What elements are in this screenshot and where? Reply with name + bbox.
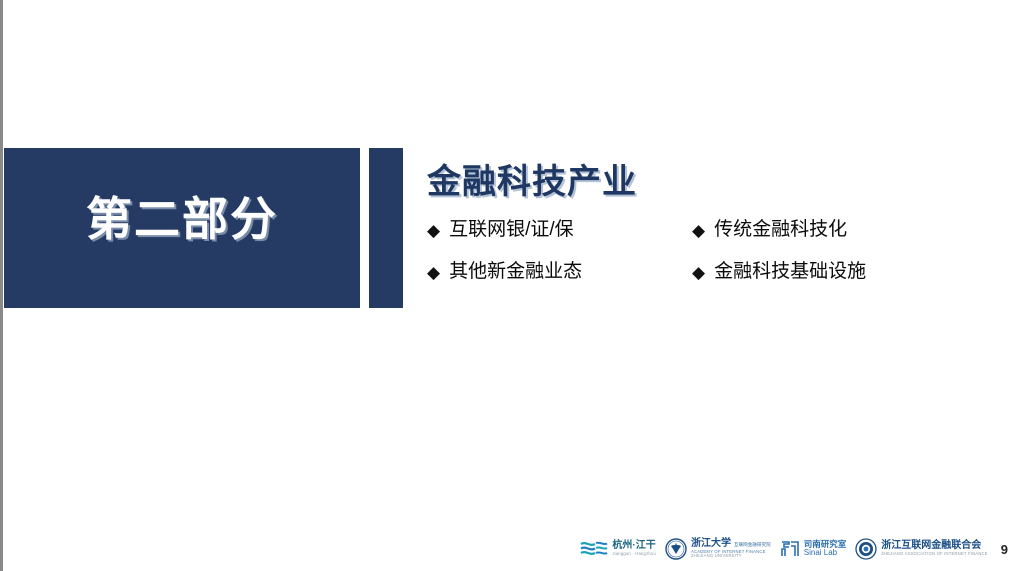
logo-zju-en2: ZHEJIANG UNIVERSITY: [691, 554, 771, 559]
diamond-bullet-icon: ◆: [692, 264, 705, 281]
logo-zafi: 浙江互联网金融联合会 ZHEJIANG ASSOCIATION OF INTER…: [855, 536, 988, 562]
bullet-list: ◆ 互联网银/证/保 ◆ 传统金融科技化 ◆ 其他新金融业态 ◆ 金融科技基础设…: [427, 218, 987, 284]
section-number-label: 第二部分: [4, 196, 360, 242]
list-item: ◆ 互联网银/证/保: [427, 218, 692, 243]
logo-zafi-text: 浙江互联网金融联合会 ZHEJIANG ASSOCIATION OF INTER…: [881, 541, 988, 556]
list-item-label: 金融科技基础设施: [714, 260, 866, 285]
slide-canvas: 第二部分 金融科技产业 ◆ 互联网银/证/保 ◆ 传统金融科技化 ◆ 其他新金融…: [0, 0, 1016, 571]
page-left-edge: [0, 0, 3, 571]
section-banner: 第二部分: [4, 148, 360, 308]
page-number: 9: [1001, 542, 1008, 557]
list-item: ◆ 金融科技基础设施: [692, 260, 987, 285]
page-title: 金融科技产业: [427, 163, 987, 202]
sinai-mark-icon: [780, 539, 800, 559]
logo-zju-aif: 浙江大学 互联网金融研究院 ACADEMY OF INTERNET FINANC…: [665, 536, 771, 562]
content-area: 金融科技产业 ◆ 互联网银/证/保 ◆ 传统金融科技化 ◆ 其他新金融业态 ◆ …: [427, 163, 987, 284]
logo-zju-text: 浙江大学 互联网金融研究院 ACADEMY OF INTERNET FINANC…: [691, 539, 771, 559]
list-item-label: 其他新金融业态: [449, 260, 582, 285]
zafi-seal-icon: [855, 538, 877, 560]
list-item: ◆ 其他新金融业态: [427, 260, 692, 285]
logo-jianggan-hangzhou: 杭州·江干 Jianggan · Hangzhou: [580, 536, 656, 562]
logo-jianggan-en: Jianggan · Hangzhou: [612, 552, 656, 557]
logo-zju-sub: 互联网金融研究院: [734, 542, 771, 548]
section-accent-bar: [369, 148, 403, 308]
list-item-label: 互联网银/证/保: [449, 218, 574, 243]
footer-logo-strip: 杭州·江干 Jianggan · Hangzhou 浙江大学 互联网金融研究院: [580, 536, 1008, 562]
logo-zafi-en: ZHEJIANG ASSOCIATION OF INTERNET FINANCE: [881, 552, 988, 557]
zju-seal-icon: [665, 538, 687, 560]
logo-jianggan-text: 杭州·江干 Jianggan · Hangzhou: [612, 541, 656, 556]
diamond-bullet-icon: ◆: [427, 264, 440, 281]
logo-sinai-en: Sinai Lab: [804, 549, 847, 558]
logo-sinai-text: 司南研究室 Sinai Lab: [804, 540, 847, 558]
logo-sinai-lab: 司南研究室 Sinai Lab: [780, 536, 847, 562]
list-item-label: 传统金融科技化: [714, 218, 847, 243]
diamond-bullet-icon: ◆: [427, 222, 440, 239]
wave-icon: [580, 540, 608, 558]
list-item: ◆ 传统金融科技化: [692, 218, 987, 243]
diamond-bullet-icon: ◆: [692, 222, 705, 239]
footer-bar: 杭州·江干 Jianggan · Hangzhou 浙江大学 互联网金融研究院: [0, 527, 1016, 565]
